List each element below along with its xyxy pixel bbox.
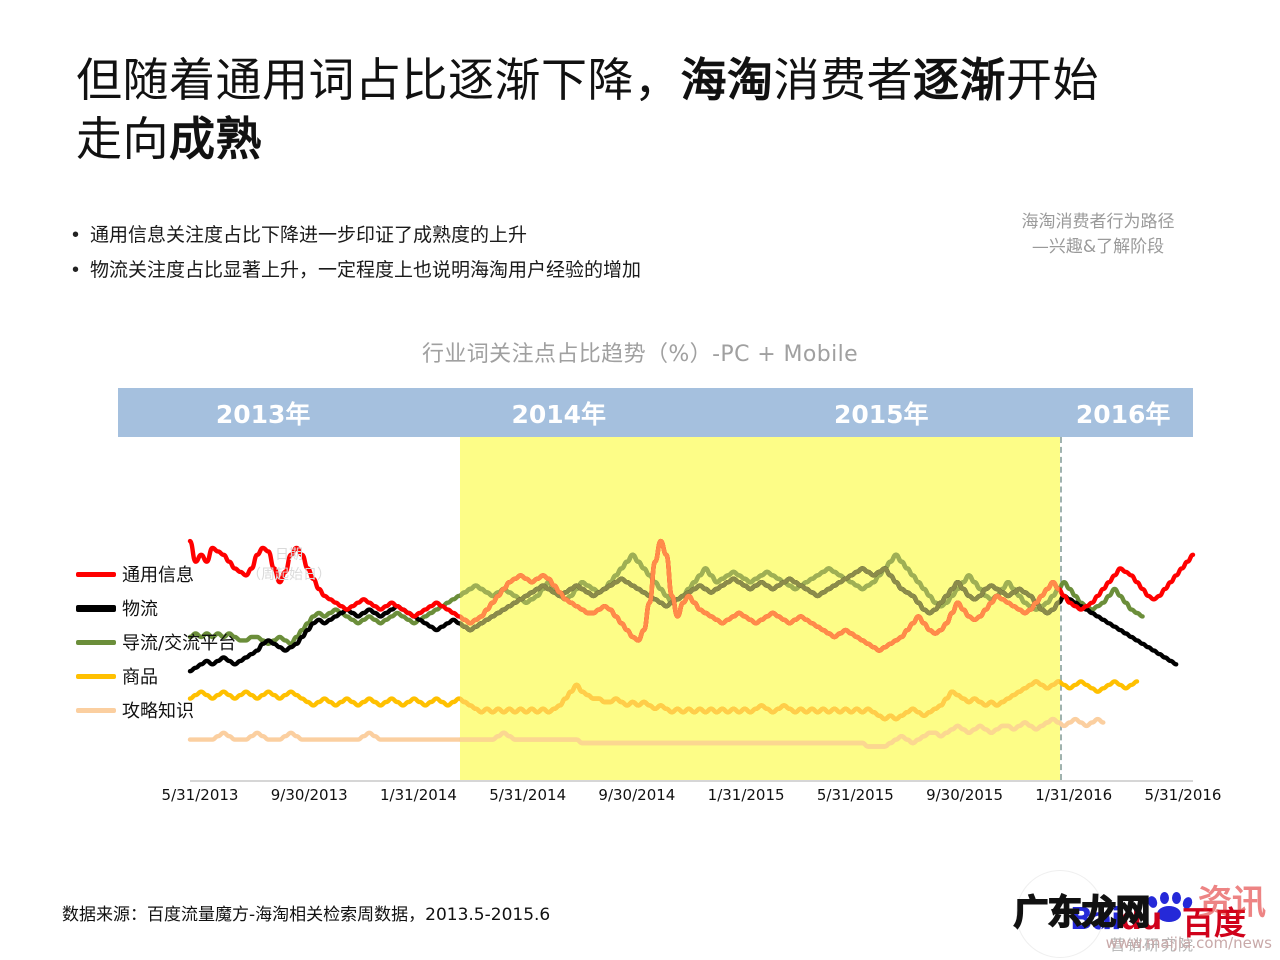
chart-container: 2013年2014年2015年2016年 日期 （周起始日） 通用信息物流导流/… bbox=[118, 388, 1193, 808]
title-part-4: 逐渐 bbox=[913, 55, 1006, 106]
x-tick-label: 1/31/2014 bbox=[380, 786, 457, 804]
title-part-6: 走向 bbox=[76, 114, 169, 165]
title-part-2: 海淘 bbox=[681, 55, 774, 106]
bullet-text: 物流关注度占比显著上升，一定程度上也说明海淘用户经验的增加 bbox=[90, 257, 641, 284]
legend-item[interactable]: 物流 bbox=[76, 591, 276, 625]
legend-item[interactable]: 导流/交流平台 bbox=[76, 625, 276, 659]
title-part-7: 成熟 bbox=[169, 114, 262, 165]
series-lines bbox=[118, 437, 1193, 780]
x-tick-label: 9/30/2015 bbox=[926, 786, 1003, 804]
series-line-3 bbox=[190, 681, 1137, 719]
watermark-url: www.maijia.com/news bbox=[1106, 934, 1272, 952]
chart-legend: 通用信息物流导流/交流平台商品攻略知识 bbox=[76, 557, 276, 727]
side-caption-line-2: —兴趣&了解阶段 bbox=[988, 235, 1208, 260]
x-tick-label: 5/31/2013 bbox=[162, 786, 239, 804]
watermark-brand: 资讯 bbox=[1198, 875, 1266, 924]
x-tick-label: 1/31/2016 bbox=[1035, 786, 1112, 804]
legend-label: 物流 bbox=[122, 595, 158, 621]
source-note: 数据来源：百度流量魔方-海淘相关检索周数据，2013.5-2015.6 bbox=[62, 900, 550, 925]
bullet-marker-icon: • bbox=[72, 257, 90, 283]
title-part-5: 开始 bbox=[1006, 55, 1099, 106]
legend-swatch bbox=[76, 674, 116, 679]
year-label: 2015年 bbox=[834, 395, 929, 431]
legend-label: 导流/交流平台 bbox=[122, 629, 236, 655]
plot-area: 日期 （周起始日） 通用信息物流导流/交流平台商品攻略知识 bbox=[118, 437, 1193, 780]
x-tick-label: 5/31/2014 bbox=[489, 786, 566, 804]
series-line-tint-4 bbox=[190, 719, 1103, 746]
year-label: 2014年 bbox=[511, 395, 606, 431]
bullet-item: • 物流关注度占比显著上升，一定程度上也说明海淘用户经验的增加 bbox=[72, 257, 952, 284]
legend-label: 通用信息 bbox=[122, 561, 194, 587]
side-caption-line-1: 海淘消费者行为路径 bbox=[988, 210, 1208, 235]
bullet-list: • 通用信息关注度占比下降进一步印证了成熟度的上升 • 物流关注度占比显著上升，… bbox=[72, 222, 952, 292]
legend-item[interactable]: 商品 bbox=[76, 659, 276, 693]
legend-item[interactable]: 攻略知识 bbox=[76, 693, 276, 727]
legend-item[interactable]: 通用信息 bbox=[76, 557, 276, 591]
legend-swatch bbox=[76, 572, 116, 577]
x-tick-label: 9/30/2013 bbox=[271, 786, 348, 804]
bullet-item: • 通用信息关注度占比下降进一步印证了成熟度的上升 bbox=[72, 222, 952, 249]
x-tick-label: 1/31/2015 bbox=[708, 786, 785, 804]
bullet-marker-icon: • bbox=[72, 222, 90, 248]
x-axis-line bbox=[190, 780, 1193, 782]
legend-swatch bbox=[76, 640, 116, 645]
bullet-text: 通用信息关注度占比下降进一步印证了成熟度的上升 bbox=[90, 222, 527, 249]
title-part-3: 消费者 bbox=[774, 55, 914, 106]
watermark-site: 广东龙网 bbox=[1014, 885, 1150, 934]
x-axis-ticks: 5/31/20139/30/20131/31/20145/31/20149/30… bbox=[118, 786, 1193, 812]
page-title: 但随着通用词占比逐渐下降，海淘消费者逐渐开始 走向成熟 bbox=[76, 52, 1196, 170]
side-caption: 海淘消费者行为路径 —兴趣&了解阶段 bbox=[988, 210, 1208, 259]
legend-swatch bbox=[76, 605, 116, 612]
x-tick-label: 5/31/2015 bbox=[817, 786, 894, 804]
chart-title: 行业词关注点占比趋势（%）-PC + Mobile bbox=[0, 336, 1280, 368]
year-label: 2016年 bbox=[1076, 395, 1171, 431]
x-tick-label: 9/30/2014 bbox=[598, 786, 675, 804]
x-tick-label: 5/31/2016 bbox=[1145, 786, 1222, 804]
legend-label: 攻略知识 bbox=[122, 697, 194, 723]
legend-swatch bbox=[76, 708, 116, 713]
year-band: 2013年2014年2015年2016年 bbox=[118, 388, 1193, 437]
legend-label: 商品 bbox=[122, 663, 158, 689]
slide-root: 但随着通用词占比逐渐下降，海淘消费者逐渐开始 走向成熟 • 通用信息关注度占比下… bbox=[0, 0, 1280, 960]
year-label: 2013年 bbox=[216, 395, 311, 431]
title-part-1: 但随着通用词占比逐渐下降， bbox=[76, 55, 681, 106]
